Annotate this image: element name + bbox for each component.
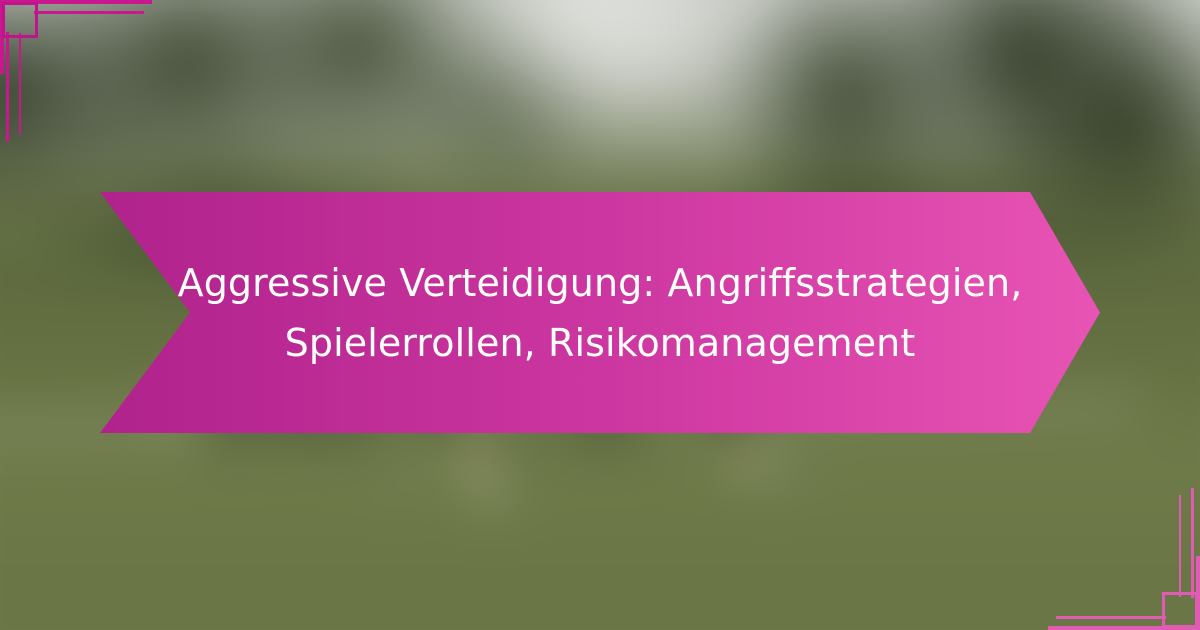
- bracket-line-horizontal-inner: [34, 11, 144, 14]
- bracket-square: [2, 2, 38, 38]
- bracket-line-vertical-outer: [6, 32, 9, 142]
- social-card-canvas: Aggressive Verteidigung: Angriffsstrateg…: [0, 0, 1200, 630]
- title-banner: Aggressive Verteidigung: Angriffsstrateg…: [100, 192, 1100, 433]
- bracket-line-horizontal-inner: [1056, 616, 1166, 619]
- bracket-line-vertical-inner: [1179, 495, 1181, 597]
- light-pole: [712, 0, 719, 175]
- banner-title-line-2: Spielerrollen, Risikomanagement: [170, 313, 1030, 373]
- corner-bracket-bottom-right: [1000, 480, 1200, 630]
- sky-opening: [370, 0, 790, 160]
- corner-bracket-top-left: [0, 0, 200, 150]
- bracket-line-vertical-inner: [19, 33, 21, 135]
- banner-title-line-1: Aggressive Verteidigung: Angriffsstrateg…: [170, 253, 1030, 313]
- banner-title: Aggressive Verteidigung: Angriffsstrateg…: [170, 253, 1030, 373]
- bracket-line-vertical-outer: [1191, 488, 1194, 598]
- bracket-square: [1162, 592, 1198, 628]
